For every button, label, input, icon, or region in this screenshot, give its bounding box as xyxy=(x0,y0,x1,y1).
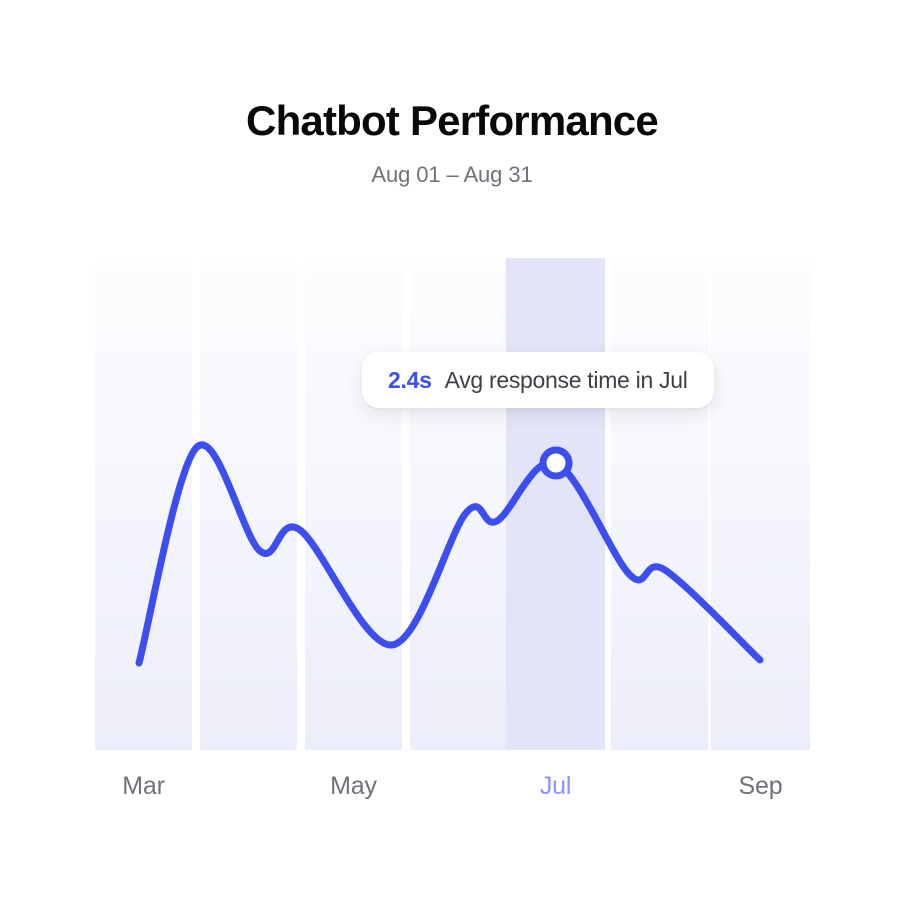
line-series-svg xyxy=(95,258,810,750)
chart-plot-area xyxy=(95,258,810,750)
date-range-subtitle: Aug 01 – Aug 31 xyxy=(0,146,904,188)
tooltip-value: 2.4s xyxy=(388,367,432,394)
chart-header: Chatbot Performance Aug 01 – Aug 31 xyxy=(0,0,904,188)
chart-card: Chatbot Performance Aug 01 – Aug 31 2.4s… xyxy=(0,0,904,904)
x-axis-label-sep[interactable]: Sep xyxy=(711,772,811,801)
line-series-path xyxy=(139,445,760,663)
tooltip-callout[interactable]: 2.4s Avg response time in Jul xyxy=(362,352,714,408)
x-axis-label-may[interactable]: May xyxy=(304,772,404,801)
x-axis-label-mar[interactable]: Mar xyxy=(94,772,194,801)
data-point-marker[interactable] xyxy=(543,450,569,476)
tooltip-label: Avg response time in Jul xyxy=(445,367,688,394)
x-axis-label-jul[interactable]: Jul xyxy=(506,772,606,801)
x-axis-labels: MarMayJulSep xyxy=(95,772,810,812)
page-title: Chatbot Performance xyxy=(0,0,904,146)
